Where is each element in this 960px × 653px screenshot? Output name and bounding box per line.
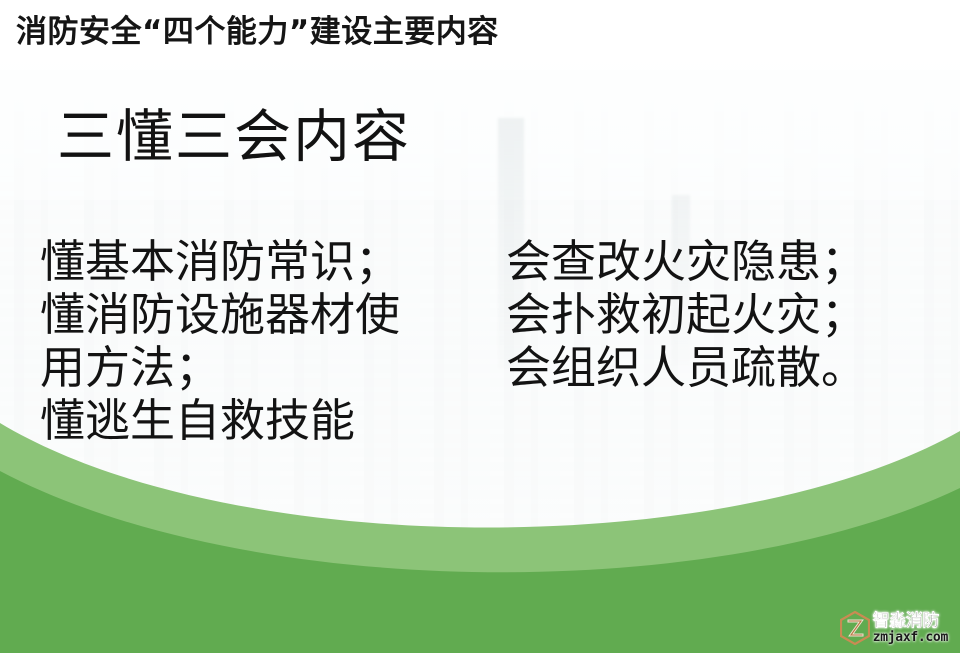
content-column-right-sanhui: 会查改火灾隐患； 会扑救初起火灾； 会组织人员疏散。 bbox=[506, 236, 936, 395]
page-title: 消防安全“四个能力”建设主要内容 bbox=[16, 12, 499, 52]
watermark: 智淼消防 zmjaxf.com bbox=[840, 611, 948, 645]
watermark-text-group: 智淼消防 zmjaxf.com bbox=[873, 613, 948, 644]
content-column-left-sandong: 懂基本消防常识； 懂消防设施器材使 用方法； 懂逃生自救技能 bbox=[40, 236, 470, 448]
watermark-url: zmjaxf.com bbox=[873, 631, 948, 644]
section-heading: 三懂三会内容 bbox=[57, 103, 411, 173]
slide-canvas: 消防安全“四个能力”建设主要内容 三懂三会内容 懂基本消防常识； 懂消防设施器材… bbox=[0, 0, 960, 653]
diamond-z-logo-icon bbox=[840, 611, 870, 645]
watermark-brand: 智淼消防 bbox=[873, 613, 948, 630]
